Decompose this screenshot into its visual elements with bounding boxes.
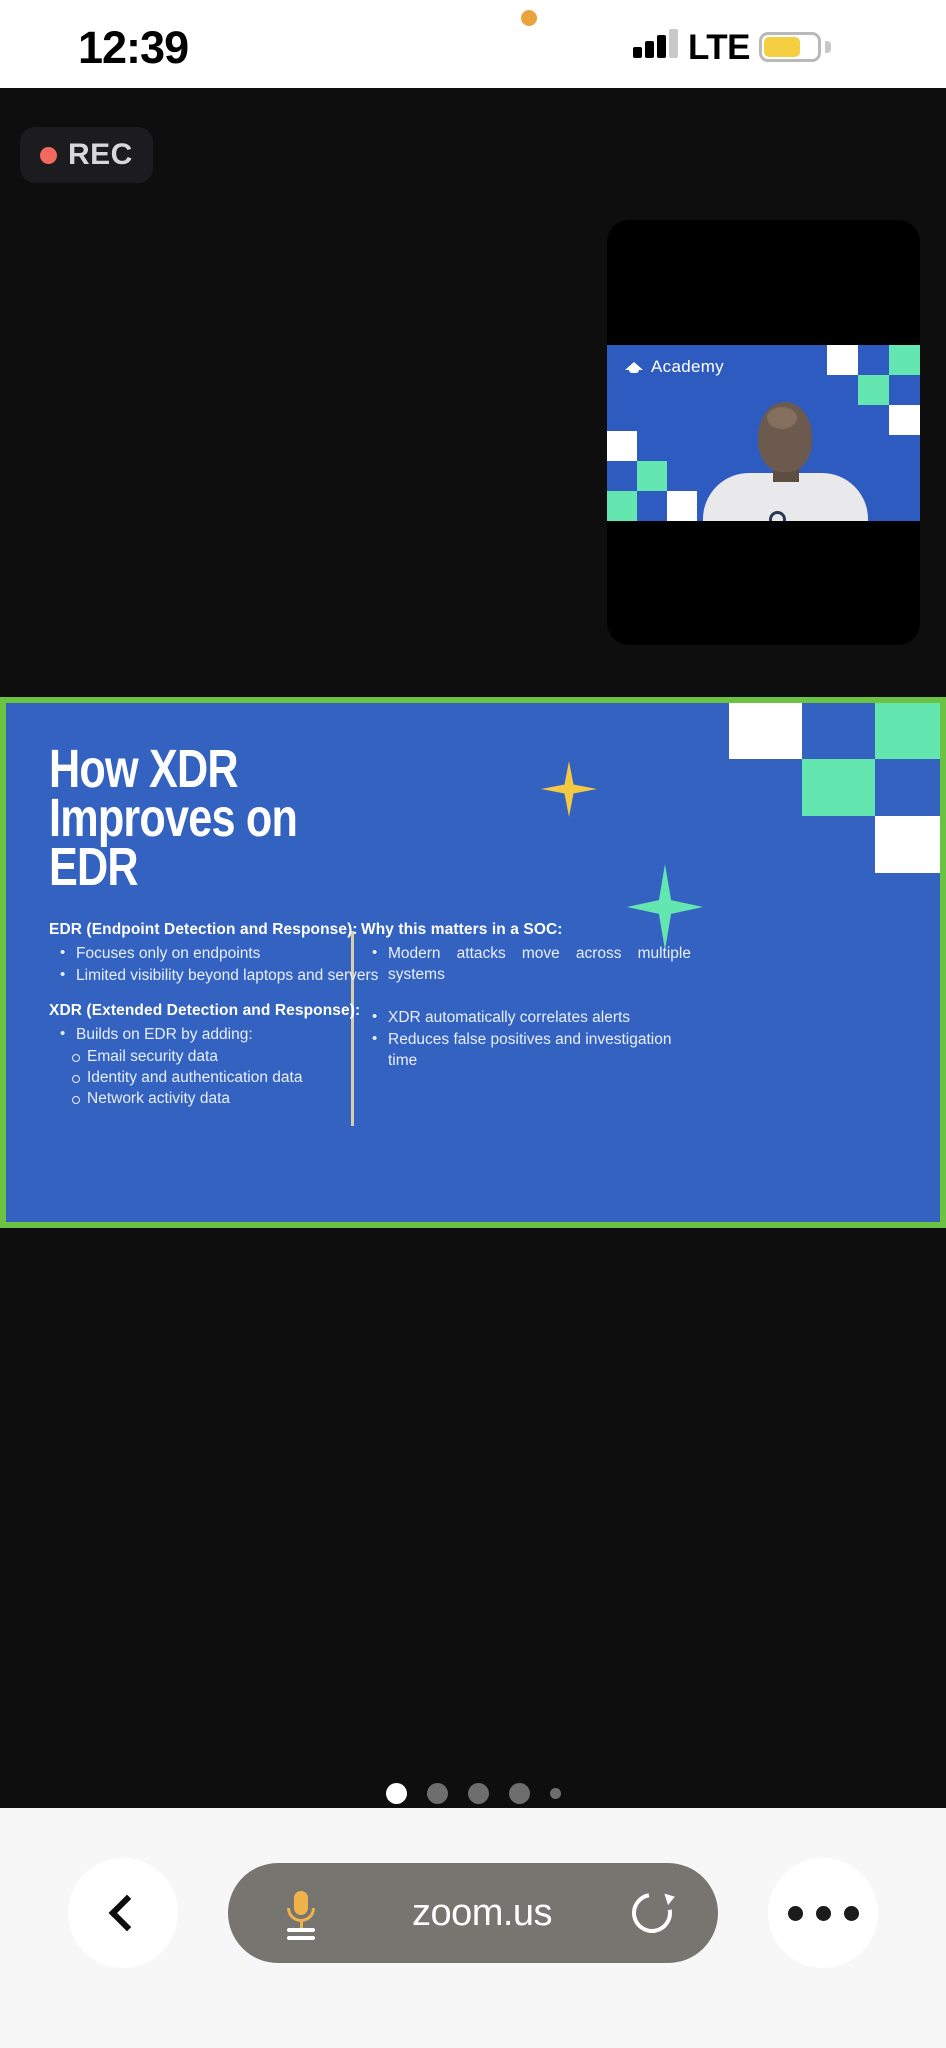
mic-arc: [287, 1908, 315, 1922]
decor-square: [875, 816, 946, 873]
signal-bars-icon: [633, 30, 678, 58]
page-dot-1[interactable]: [386, 1783, 407, 1804]
signal-bar-2: [645, 41, 654, 58]
presenter-head-highlight: [767, 407, 797, 429]
browser-toolbar: zoom.us: [0, 1808, 946, 2048]
ellipsis-dot: [788, 1906, 803, 1921]
slide-title: How XDR Improves on EDR: [49, 745, 297, 892]
recording-badge[interactable]: REC: [20, 127, 153, 183]
ellipsis-dot: [844, 1906, 859, 1921]
bullet-list: Modern attacks move across multiple syst…: [370, 943, 691, 1071]
ellipsis-icon: [788, 1906, 859, 1921]
chevron-left-icon: [109, 1895, 146, 1932]
slide-title-line: Improves on: [49, 794, 297, 843]
bullet-item: Modern attacks move across multiple syst…: [370, 943, 691, 1006]
more-button[interactable]: [768, 1858, 878, 1968]
decor-square: [858, 375, 889, 405]
slide-right-column: Why this matters in a SOC: Modern attack…: [361, 921, 691, 1072]
page-dot-2[interactable]: [427, 1783, 448, 1804]
slide-title-line: How XDR: [49, 745, 297, 794]
academy-watermark-label: Academy: [651, 357, 724, 377]
address-bar[interactable]: zoom.us: [228, 1863, 718, 1963]
decor-square: [637, 431, 667, 461]
decor-square: [667, 491, 697, 521]
decor-square: [802, 703, 875, 759]
decor-square: [875, 703, 946, 759]
decor-square: [875, 759, 946, 816]
mic-line-2: [287, 1936, 315, 1940]
recording-label: REC: [68, 138, 133, 172]
mic-line-1: [287, 1928, 315, 1932]
decor-square: [802, 759, 875, 816]
decor-square: [637, 491, 667, 521]
status-bar-clock: 12:39: [78, 22, 188, 74]
battery-low-power-icon: [759, 32, 821, 62]
academy-watermark: Academy: [625, 357, 724, 377]
mic-stem: [300, 1921, 304, 1928]
recording-dot-icon: [40, 147, 57, 164]
signal-bar-3: [657, 35, 666, 58]
phone-screen: 12:39 LTE REC Academy: [0, 0, 946, 2048]
slide-title-line: EDR: [49, 843, 297, 892]
network-type-label: LTE: [688, 28, 750, 68]
reload-icon[interactable]: [632, 1893, 676, 1937]
page-dot-5[interactable]: [550, 1788, 561, 1799]
graduation-cap-icon: [625, 361, 643, 374]
signal-bar-4: [669, 29, 678, 58]
decor-square: [607, 461, 637, 491]
decor-square: [889, 345, 920, 375]
bullet-item: XDR automatically correlates alerts: [370, 1007, 691, 1028]
status-bar: 12:39 LTE: [0, 0, 946, 88]
page-dot-3[interactable]: [468, 1783, 489, 1804]
sub-bullet-item: Network activity data: [69, 1088, 419, 1109]
decor-square: [889, 375, 920, 405]
four-point-star-icon: [541, 761, 597, 817]
ellipsis-dot: [816, 1906, 831, 1921]
decor-square: [827, 345, 858, 375]
microphone-in-use-dot-icon: [521, 10, 537, 26]
presenter-video-tile[interactable]: Academy: [607, 220, 920, 645]
decor-square: [858, 345, 889, 375]
battery-cap: [825, 41, 831, 53]
shirt-logo-icon: [769, 511, 786, 521]
presenter-video-frame: Academy: [607, 345, 920, 521]
back-button[interactable]: [68, 1858, 178, 1968]
signal-bar-1: [633, 47, 642, 58]
bullet-item: Reduces false positives and investigatio…: [370, 1029, 691, 1071]
battery-fill: [764, 37, 800, 57]
decor-square: [637, 461, 667, 491]
section-heading: Why this matters in a SOC:: [361, 921, 691, 939]
page-dot-4[interactable]: [509, 1783, 530, 1804]
microphone-active-icon[interactable]: [283, 1891, 319, 1939]
decor-square: [729, 703, 802, 759]
decor-square: [889, 405, 920, 435]
presentation-slide[interactable]: How XDR Improves on EDR EDR (Endpoint De…: [0, 697, 946, 1228]
decor-square: [607, 431, 637, 461]
decor-square: [607, 491, 637, 521]
page-indicator[interactable]: [0, 1783, 946, 1804]
